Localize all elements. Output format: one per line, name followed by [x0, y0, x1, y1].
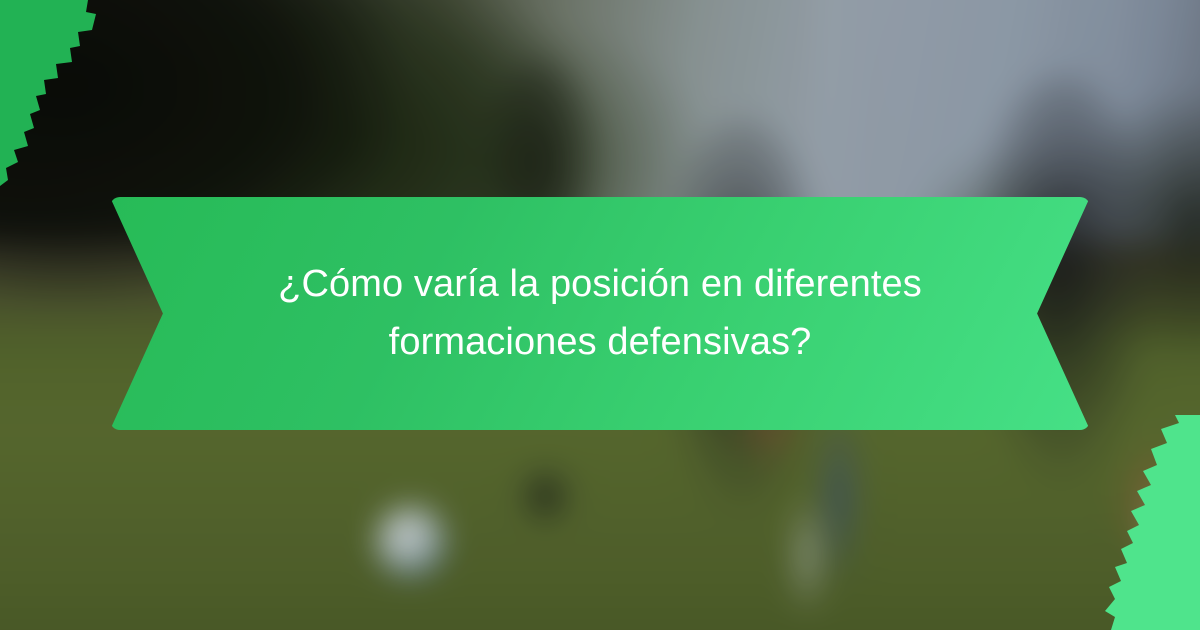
- social-card: ¿Cómo varía la posición en diferentes fo…: [0, 0, 1200, 630]
- torn-green-shape-top-left: [0, 0, 150, 200]
- banner-title: ¿Cómo varía la posición en diferentes fo…: [230, 256, 970, 372]
- torn-green-shape-bottom-right: [1075, 415, 1200, 630]
- title-banner: ¿Cómo varía la posición en diferentes fo…: [110, 197, 1090, 430]
